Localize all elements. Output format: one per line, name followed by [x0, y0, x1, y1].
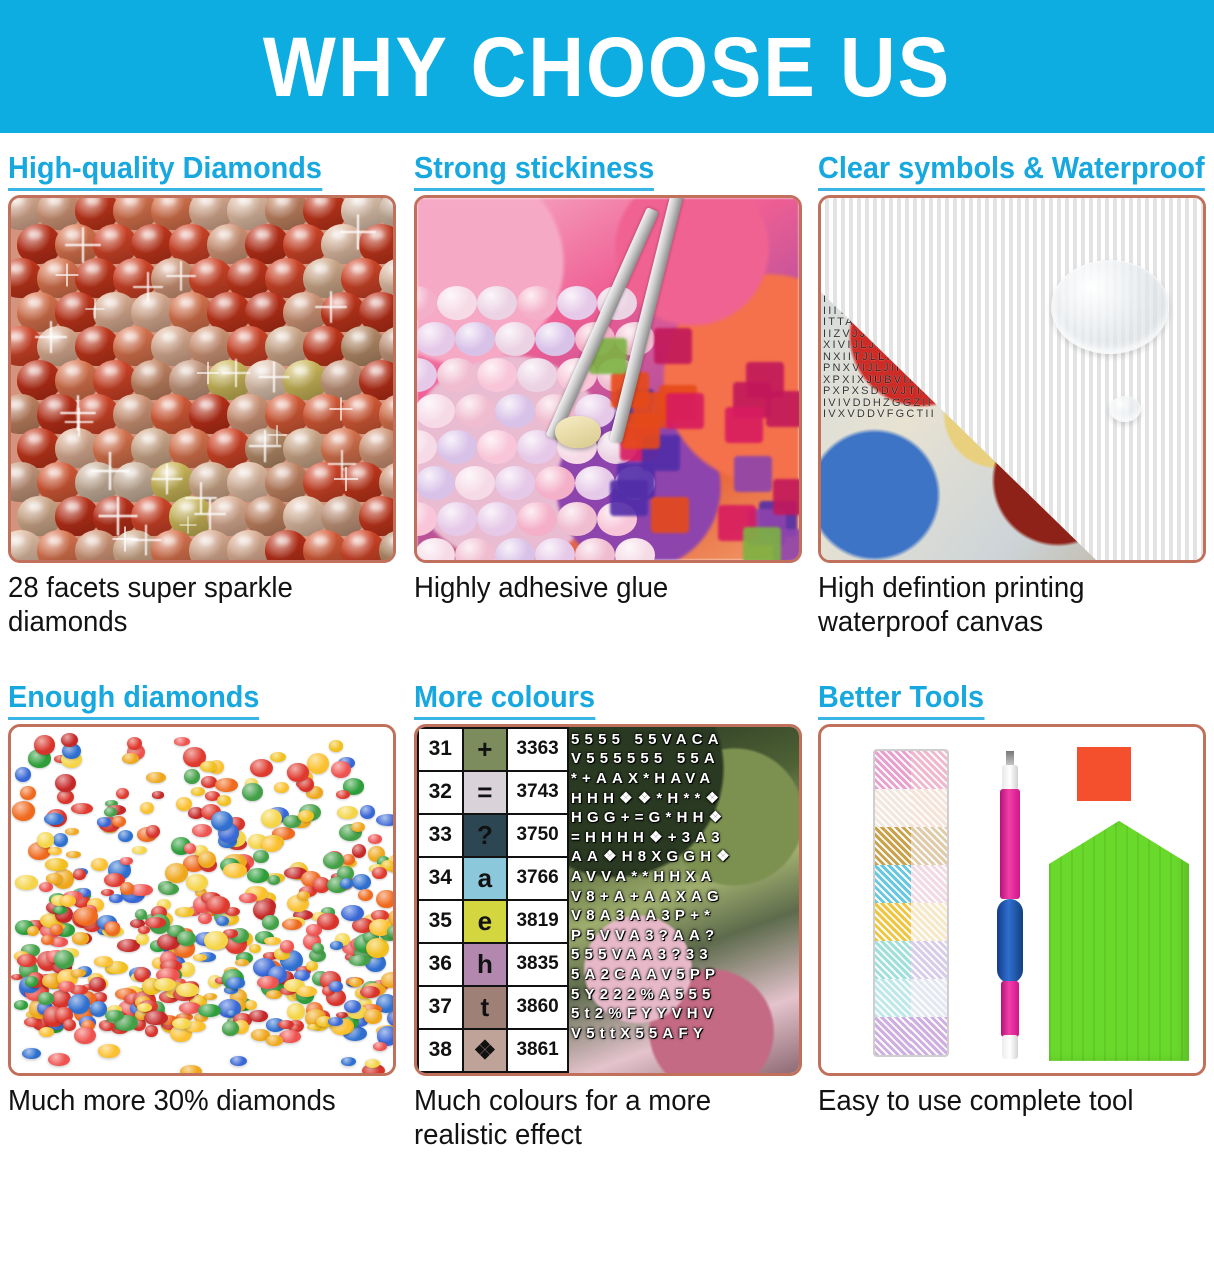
- pen-body-lower: [1001, 981, 1019, 1037]
- loose-diamond: [306, 961, 319, 971]
- pink-diamond-bead: [517, 358, 557, 392]
- loose-diamond: [282, 919, 301, 930]
- colour-swatch: e: [464, 901, 507, 942]
- bead-bag-segment: [875, 827, 911, 865]
- table-row: 36h3835: [418, 943, 568, 986]
- feature-caption-high-quality-diamonds: 28 facets super sparkle diamonds: [8, 572, 380, 640]
- loose-diamond: [15, 767, 31, 782]
- loose-diamond: [74, 1027, 96, 1045]
- loose-diamond: [71, 803, 93, 814]
- page-title: WHY CHOOSE US: [263, 25, 951, 109]
- loose-diamond: [48, 1053, 70, 1066]
- bead-bag-segment: [911, 865, 947, 903]
- loose-diamond: [344, 1000, 361, 1013]
- colour-swatch: h: [464, 944, 507, 985]
- canvas-symbol-cell: [666, 393, 704, 429]
- loose-diamond: [365, 1059, 380, 1068]
- pink-diamond-bead: [437, 430, 477, 464]
- pink-diamond-bead: [415, 322, 455, 356]
- tray-grooves: [1049, 821, 1189, 1061]
- pink-diamond-bead: [535, 466, 575, 500]
- loose-diamond: [66, 851, 81, 859]
- colour-symbol-cell: +: [463, 728, 508, 771]
- colour-swatch: ❖: [464, 1030, 507, 1071]
- colour-swatch: t: [464, 987, 507, 1028]
- loose-diamond: [72, 932, 90, 944]
- bead-bag-segment: [875, 941, 911, 979]
- loose-diamond: [296, 986, 318, 997]
- symbol-canvas-text: 5555 55VACA V555555 55A *+AAX*HAVA HHH❖❖…: [569, 727, 799, 1073]
- loose-diamond: [53, 833, 68, 847]
- colour-symbol-cell: a: [463, 857, 508, 900]
- loose-diamond: [247, 868, 270, 883]
- loose-diamond: [54, 950, 74, 969]
- loose-diamond: [39, 882, 53, 892]
- loose-diamond: [12, 801, 35, 821]
- feature-caption-better-tools: Easy to use complete tool: [818, 1085, 1190, 1119]
- pink-diamond-bead: [495, 322, 535, 356]
- loose-diamond: [144, 1011, 168, 1025]
- pink-diamond-bead: [477, 502, 517, 536]
- loose-diamond: [230, 1056, 247, 1066]
- loose-diamond: [206, 896, 230, 914]
- canvas-symbol-cell: [610, 480, 648, 516]
- loose-diamond: [73, 869, 85, 880]
- bead-bag-segment: [911, 1017, 947, 1055]
- loose-diamond: [331, 761, 351, 778]
- loose-diamond: [100, 1022, 115, 1031]
- feature-cell-strong-stickiness: Strong stickiness Highly adhesive glue: [404, 133, 809, 640]
- bead-bag-segment: [875, 751, 911, 789]
- loose-diamond: [184, 769, 200, 783]
- held-diamond-bead: [555, 416, 601, 448]
- loose-diamond: [48, 847, 62, 855]
- loose-diamond: [253, 850, 268, 863]
- bead-bag-segment: [875, 865, 911, 903]
- table-row: 38❖3861: [418, 1029, 568, 1072]
- loose-diamond: [239, 893, 256, 903]
- pink-diamond-bead: [437, 358, 477, 392]
- feature-title-clear-symbols-waterproof: Clear symbols & Waterproof: [818, 150, 1205, 191]
- loose-diamond: [360, 805, 375, 818]
- pink-diamond-bead: [415, 466, 455, 500]
- dmc-code-cell: 3819: [507, 900, 568, 943]
- loose-diamond: [98, 1044, 121, 1058]
- bead-bag-segment: [875, 979, 911, 1017]
- loose-diamond: [200, 761, 217, 772]
- loose-diamond: [261, 809, 282, 828]
- loose-diamond: [297, 891, 310, 900]
- table-row: 32=3743: [418, 771, 568, 814]
- feature-cell-more-colours: More colours 31+336332=374333?375034a376…: [404, 662, 809, 1153]
- pink-diamond-bead: [495, 394, 535, 428]
- feature-title-enough-diamonds: Enough diamonds: [8, 679, 259, 720]
- loose-diamond: [366, 938, 389, 958]
- pink-diamond-bead: [437, 502, 477, 536]
- dmc-code-cell: 3835: [507, 943, 568, 986]
- pink-diamond-bead: [495, 466, 535, 500]
- loose-diamond: [97, 817, 112, 826]
- colour-index-cell: 36: [418, 943, 463, 986]
- bead-bag-segment: [875, 1017, 911, 1055]
- loose-diamond: [44, 813, 64, 825]
- dmc-colour-table: 31+336332=374333?375034a376635e381936h38…: [417, 727, 569, 1073]
- loose-diamond: [249, 944, 261, 953]
- loose-diamond: [180, 1065, 203, 1076]
- loose-diamond: [287, 1003, 305, 1020]
- loose-diamond: [186, 874, 208, 891]
- loose-diamond: [39, 1027, 53, 1037]
- glue-square: [1077, 747, 1131, 801]
- colour-index-cell: 33: [418, 814, 463, 857]
- colour-swatch: ?: [464, 815, 507, 856]
- colour-symbol-cell: ❖: [463, 1029, 508, 1072]
- bead-bag-segment: [911, 751, 947, 789]
- pen-grip: [997, 899, 1023, 983]
- feature-title-more-colours: More colours: [414, 679, 595, 720]
- loose-diamond: [120, 882, 134, 895]
- colour-swatch: =: [464, 772, 507, 813]
- bead-bag-left-column: [875, 751, 911, 1055]
- feature-caption-enough-diamonds: Much more 30% diamonds: [8, 1085, 380, 1119]
- bead-bag-segment: [911, 903, 947, 941]
- loose-diamond: [61, 733, 78, 747]
- loose-diamond: [266, 1035, 284, 1046]
- colour-index-cell: 37: [418, 986, 463, 1029]
- loose-diamond: [215, 778, 238, 792]
- feature-image-more-colours: 31+336332=374333?375034a376635e381936h38…: [414, 724, 802, 1076]
- feature-row-2: Enough diamonds Much more 30% diamonds M…: [0, 662, 1214, 1153]
- loose-diamond: [105, 922, 120, 936]
- loose-diamond: [118, 830, 133, 843]
- loose-diamond: [20, 786, 36, 800]
- feature-grid: High-quality Diamonds 28 facets super sp…: [0, 133, 1214, 1153]
- feature-title-high-quality-diamonds: High-quality Diamonds: [8, 150, 322, 191]
- colour-index-cell: 32: [418, 771, 463, 814]
- dmc-code-cell: 3750: [507, 814, 568, 857]
- loose-diamond: [250, 759, 273, 777]
- loose-diamond: [204, 993, 217, 1000]
- feature-image-strong-stickiness: [414, 195, 802, 563]
- infographic-page: WHY CHOOSE US High-quality Diamonds 28 f…: [0, 0, 1214, 1261]
- loose-diamond: [109, 894, 124, 902]
- loose-diamond: [159, 883, 179, 895]
- loose-diamond: [341, 1057, 356, 1066]
- loose-diamond: [27, 926, 39, 937]
- feature-image-better-tools: [818, 724, 1206, 1076]
- loose-diamond: [336, 790, 350, 799]
- loose-diamond: [65, 828, 79, 836]
- symbol-canvas-photo: 5555 55VACA V555555 55A *+AAX*HAVA HHH❖❖…: [569, 727, 799, 1073]
- dmc-code-cell: 3766: [507, 857, 568, 900]
- loose-diamond: [45, 858, 68, 871]
- pink-diamond-bead: [557, 286, 597, 320]
- water-droplet-small: [1109, 396, 1141, 422]
- colour-symbol-cell: =: [463, 771, 508, 814]
- loose-diamond: [270, 752, 286, 762]
- bead-storage-bag: [873, 749, 949, 1057]
- diamond-tray: [1049, 821, 1189, 1061]
- loose-diamond: [337, 806, 358, 820]
- feature-caption-clear-symbols-waterproof: High defintion printing waterproof canva…: [818, 572, 1190, 640]
- loose-diamond: [376, 890, 396, 908]
- feature-title-strong-stickiness: Strong stickiness: [414, 150, 654, 191]
- loose-diamond: [373, 1042, 387, 1051]
- loose-diamond: [184, 843, 196, 854]
- pink-diamond-bead: [517, 502, 557, 536]
- colour-swatch: a: [464, 858, 507, 899]
- loose-diamond: [191, 787, 206, 796]
- tools-photo: [821, 727, 1203, 1073]
- bead-bag-segment: [875, 903, 911, 941]
- dmc-code-cell: 3861: [507, 1029, 568, 1072]
- loose-diamond: [381, 972, 396, 989]
- loose-diamond: [198, 1004, 220, 1017]
- feature-image-clear-symbols-waterproof: ITTIJGGGGGGGG ITGGGGUIGGGGG IVIGGUTJLUGG…: [818, 195, 1206, 563]
- loose-diamond: [223, 863, 246, 878]
- loose-diamond: [145, 917, 166, 928]
- pen-ferrule: [1002, 765, 1018, 791]
- colour-index-cell: 31: [418, 728, 463, 771]
- loose-diamond: [37, 832, 54, 847]
- loose-diamond: [172, 1018, 191, 1029]
- pink-diamond-bead: [455, 322, 495, 356]
- colour-index-cell: 38: [418, 1029, 463, 1072]
- loose-diamond: [112, 816, 126, 827]
- loose-diamond: [360, 986, 380, 998]
- loose-diamond: [268, 875, 281, 885]
- loose-diamond: [280, 940, 295, 953]
- loose-diamond: [55, 774, 76, 792]
- bead-bag-segment: [911, 941, 947, 979]
- feature-row-1: High-quality Diamonds 28 facets super sp…: [0, 133, 1214, 640]
- bead-bag-segment: [875, 789, 911, 827]
- loose-diamond: [15, 875, 39, 889]
- loose-diamond: [146, 825, 159, 838]
- loose-diamond: [122, 753, 140, 764]
- loose-diamond: [14, 1000, 28, 1009]
- pink-diamond-bead: [477, 358, 517, 392]
- canvas-symbol-cell: [743, 527, 781, 563]
- loose-diamond: [364, 1009, 382, 1023]
- feature-cell-better-tools: Better Tools: [809, 662, 1214, 1153]
- dmc-code-cell: 3743: [507, 771, 568, 814]
- loose-diamond: [235, 959, 249, 967]
- loose-diamond: [135, 909, 147, 920]
- bead-bag-right-column: [911, 751, 947, 1055]
- loose-diamond: [274, 782, 288, 793]
- loose-diamond: [349, 978, 361, 988]
- loose-diamond: [349, 955, 370, 966]
- loose-diamond: [387, 925, 396, 939]
- loose-diamond: [204, 931, 228, 949]
- loose-diamond: [165, 863, 188, 883]
- loose-diamond: [198, 913, 212, 924]
- loose-diamond: [262, 915, 279, 929]
- loose-diamond: [60, 895, 76, 907]
- colour-symbol-cell: h: [463, 943, 508, 986]
- loose-diamond: [330, 941, 343, 949]
- loose-diamond: [351, 822, 365, 833]
- feature-cell-high-quality-diamonds: High-quality Diamonds 28 facets super sp…: [0, 133, 404, 640]
- loose-diamond: [154, 978, 176, 991]
- feature-cell-clear-symbols-waterproof: Clear symbols & Waterproof ITTIJGGGGGGGG…: [809, 133, 1214, 640]
- dmc-code-cell: 3860: [507, 986, 568, 1029]
- loose-diamond: [217, 795, 231, 805]
- loose-diamond: [22, 1048, 41, 1059]
- loose-diamond: [278, 1020, 294, 1029]
- canvas-symbol-cell: [654, 328, 692, 364]
- bead-bag-segment: [911, 789, 947, 827]
- loose-diamond: [132, 846, 147, 854]
- loose-diamonds-photo: [11, 727, 393, 1073]
- pink-diamond-bead: [477, 430, 517, 464]
- table-row: 37t3860: [418, 986, 568, 1029]
- loose-diamond: [226, 977, 245, 988]
- loose-diamond: [174, 737, 190, 745]
- canvas-symbol-cell: [773, 479, 802, 515]
- header-banner: WHY CHOOSE US: [0, 0, 1214, 133]
- loose-diamond: [175, 907, 194, 917]
- feature-image-enough-diamonds: [8, 724, 396, 1076]
- loose-diamond: [329, 740, 344, 751]
- diamond-beads-photo: [11, 198, 393, 560]
- loose-diamond: [376, 814, 396, 826]
- loose-diamond: [116, 788, 129, 799]
- loose-diamond: [146, 772, 165, 783]
- loose-diamond: [306, 924, 322, 935]
- loose-diamond: [53, 906, 67, 914]
- loose-diamond: [216, 916, 228, 926]
- loose-diamond: [372, 867, 387, 878]
- colour-symbol-cell: ?: [463, 814, 508, 857]
- pink-diamond-bead: [455, 394, 495, 428]
- colour-chart-container: 31+336332=374333?375034a376635e381936h38…: [417, 727, 799, 1073]
- loose-diamond: [152, 791, 165, 798]
- loose-diamond: [340, 878, 353, 889]
- loose-diamond: [245, 1000, 257, 1010]
- pen-cap: [1002, 1035, 1018, 1059]
- loose-diamond: [91, 858, 108, 871]
- pink-diamond-bead: [535, 322, 575, 356]
- pink-diamond-bead: [455, 466, 495, 500]
- loose-diamond: [307, 753, 329, 774]
- loose-diamond: [94, 956, 113, 967]
- loose-diamond: [50, 924, 63, 935]
- loose-diamond: [222, 1021, 239, 1035]
- pink-diamond-bead: [437, 286, 477, 320]
- loose-diamond: [358, 889, 373, 901]
- loose-diamond: [127, 737, 142, 750]
- colour-index-cell: 34: [418, 857, 463, 900]
- loose-diamond: [34, 735, 55, 755]
- table-row: 31+3363: [418, 728, 568, 771]
- feature-title-better-tools: Better Tools: [818, 679, 984, 720]
- loose-diamond: [71, 969, 86, 977]
- feature-caption-more-colours: Much colours for a more realistic effect: [414, 1085, 786, 1153]
- bead-bag-segment: [911, 979, 947, 1017]
- loose-diamond: [242, 783, 263, 802]
- loose-diamond: [145, 1025, 158, 1037]
- pen-body-upper: [1000, 789, 1020, 899]
- feature-image-high-quality-diamonds: [8, 195, 396, 563]
- pink-diamond-bead: [477, 286, 517, 320]
- canvas-symbol-cell: [725, 407, 763, 443]
- bead-bag-segment: [911, 827, 947, 865]
- diamond-drill-pen: [997, 751, 1023, 1057]
- loose-diamond: [264, 937, 280, 946]
- loose-diamond: [140, 802, 154, 814]
- loose-diamond: [120, 857, 133, 866]
- colour-symbol-cell: e: [463, 900, 508, 943]
- pink-diamond-bead: [557, 502, 597, 536]
- canvas-symbol-cell: [766, 391, 802, 427]
- loose-diamond: [368, 834, 382, 844]
- colour-swatch: +: [464, 729, 507, 770]
- water-droplet-large: [1051, 260, 1169, 354]
- colour-symbol-cell: t: [463, 986, 508, 1029]
- loose-diamond: [136, 933, 149, 945]
- table-row: 35e3819: [418, 900, 568, 943]
- dmc-code-cell: 3363: [507, 728, 568, 771]
- loose-diamond: [138, 926, 150, 934]
- canvas-symbol-cell: [734, 456, 772, 492]
- pink-diamond-bead: [415, 394, 455, 428]
- table-row: 33?3750: [418, 814, 568, 857]
- pink-diamond-bead: [517, 286, 557, 320]
- loose-diamond: [328, 1017, 343, 1026]
- loose-diamond: [352, 874, 370, 890]
- loose-diamond: [192, 824, 212, 837]
- loose-diamond: [63, 1019, 76, 1031]
- table-row: 34a3766: [418, 857, 568, 900]
- loose-diamond: [177, 931, 195, 945]
- feature-caption-strong-stickiness: Highly adhesive glue: [414, 572, 786, 606]
- feature-cell-enough-diamonds: Enough diamonds Much more 30% diamonds: [0, 662, 404, 1153]
- loose-diamond: [89, 977, 106, 992]
- loose-diamond: [249, 1010, 269, 1022]
- colour-index-cell: 35: [418, 900, 463, 943]
- canvas-symbol-cell: [651, 497, 689, 533]
